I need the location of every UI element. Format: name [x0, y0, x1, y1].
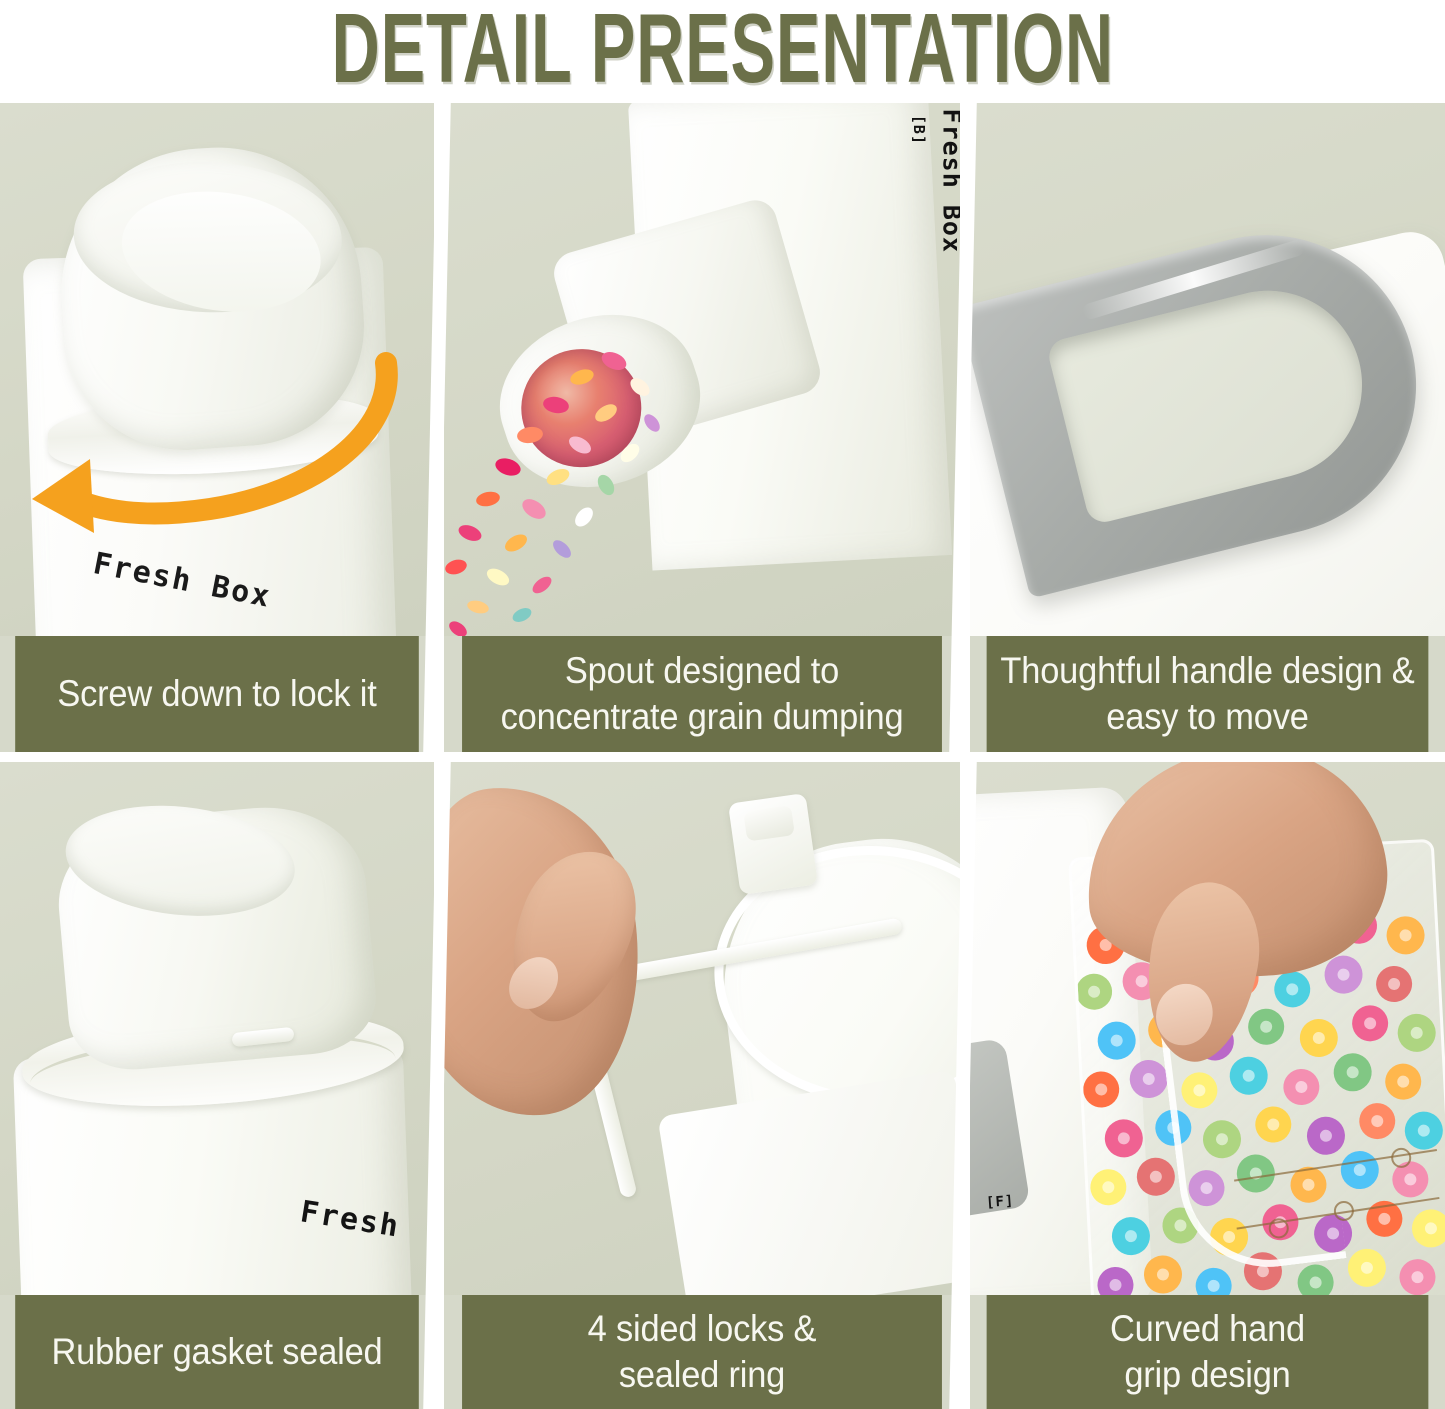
photo-rubber-gasket: Fresh [0, 762, 434, 1295]
lid-rim [71, 158, 344, 317]
panel-caption: Curved hand grip design [987, 1295, 1429, 1409]
photo-handle-design [970, 103, 1445, 636]
panel-rubber-gasket[interactable]: Fresh Rubber gasket sealed [0, 762, 434, 1409]
photo-four-sided-locks [444, 762, 960, 1295]
photo-curved-grip: [F] [970, 762, 1445, 1295]
container-base [657, 1070, 960, 1295]
lid-inner-opening [114, 179, 328, 324]
page-header: DETAIL PRESENTATION [0, 0, 1445, 103]
caption-line-1: Screw down to lock it [57, 671, 376, 717]
spout-cone [52, 799, 381, 1075]
rotate-arrow-icon [14, 341, 414, 571]
pouring-grain-icon [444, 343, 764, 636]
panel-caption: Spout designed to concentrate grain dump… [462, 636, 942, 752]
lock-clip-tab [743, 805, 795, 841]
panel-four-sided-locks[interactable]: 4 sided locks & sealed ring [444, 762, 960, 1409]
caption-line-1: Thoughtful handle design & [1000, 648, 1414, 694]
caption-line-2: grip design [1110, 1352, 1305, 1398]
panel-caption: Screw down to lock it [15, 636, 419, 752]
caption-line-2: sealed ring [588, 1352, 817, 1398]
product-label: Fresh Box [937, 109, 960, 253]
panel-curved-grip[interactable]: [F] [970, 762, 1445, 1409]
caption-line-1: Spout designed to [501, 648, 904, 694]
caption-line-1: Curved hand [1110, 1306, 1305, 1352]
panel-row-bottom: Fresh Rubber gasket sealed [0, 762, 1445, 1409]
panel-handle-design[interactable]: Thoughtful handle design & easy to move [970, 103, 1445, 752]
panel-caption: Rubber gasket sealed [15, 1295, 419, 1409]
photo-spout-design: [F] [B] Fresh Box [444, 103, 960, 636]
brand-mark: [F] [985, 1193, 1014, 1211]
brand-mark: [F] [B] [910, 103, 928, 145]
panel-row-top: Fresh Box Screw down to lock it [0, 103, 1445, 752]
photo-screw-down-lock: Fresh Box [0, 103, 434, 636]
detail-panel-grid: Fresh Box Screw down to lock it [0, 103, 1445, 1409]
measurement-marks-icon [1231, 1144, 1445, 1285]
cone-opening [60, 795, 300, 926]
panel-spout-design[interactable]: [F] [B] Fresh Box Spout designed to conc… [444, 103, 960, 752]
caption-line-1: Rubber gasket sealed [51, 1329, 382, 1375]
panel-caption: 4 sided locks & sealed ring [462, 1295, 942, 1409]
panel-screw-down-lock[interactable]: Fresh Box Screw down to lock it [0, 103, 434, 752]
caption-line-2: concentrate grain dumping [501, 694, 904, 740]
caption-line-2: easy to move [1000, 694, 1414, 740]
caption-line-1: 4 sided locks & [588, 1306, 817, 1352]
page-title: DETAIL PRESENTATION [331, 0, 1113, 104]
lock-clip [728, 793, 818, 895]
panel-caption: Thoughtful handle design & easy to move [987, 636, 1429, 752]
